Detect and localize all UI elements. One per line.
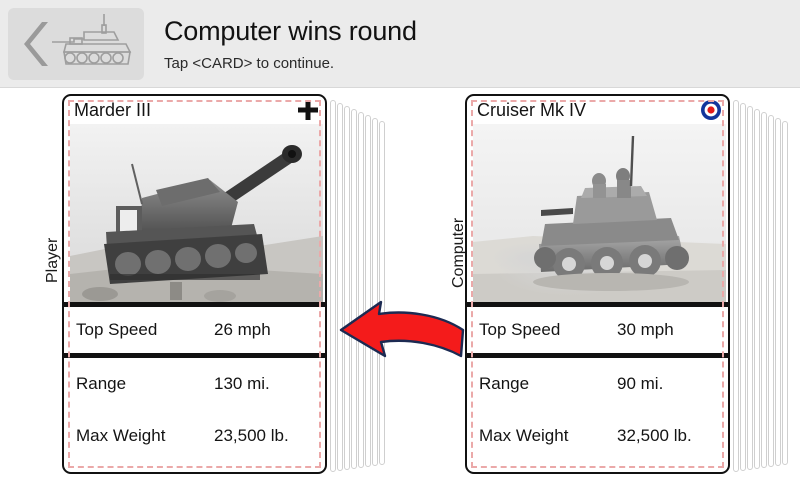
card-title-row: Marder III xyxy=(64,96,325,124)
stat-label: Max Weight xyxy=(76,426,165,446)
card-title-row: Cruiser Mk IV xyxy=(467,96,728,124)
computer-card-slot[interactable]: Cruiser Mk IV xyxy=(465,90,760,478)
stat-row[interactable]: Max Weight 23,500 lb. xyxy=(64,410,325,462)
stat-value: 30 mph xyxy=(617,320,674,340)
computer-card-title: Cruiser Mk IV xyxy=(477,99,586,121)
player-card[interactable]: Marder III xyxy=(62,94,327,474)
page-subtitle: Tap <CARD> to continue. xyxy=(164,54,784,74)
stat-label: Range xyxy=(479,374,529,394)
raf-roundel-icon xyxy=(700,99,722,121)
player-card-stats: Top Speed 26 mph Range 130 mi. Max Weigh… xyxy=(64,302,325,462)
computer-card-stats: Top Speed 30 mph Range 90 mi. Max Weight… xyxy=(467,302,728,462)
back-tank-icon[interactable] xyxy=(8,8,144,80)
stat-value: 32,500 lb. xyxy=(617,426,692,446)
cruiser-mk-iv-photo xyxy=(473,124,726,302)
transfer-arrow-left xyxy=(335,300,465,368)
stat-value: 130 mi. xyxy=(214,374,270,394)
stat-value: 90 mi. xyxy=(617,374,663,394)
stat-row[interactable]: Range 90 mi. xyxy=(467,358,728,410)
stat-label: Top Speed xyxy=(76,320,157,340)
german-cross-icon xyxy=(297,99,319,121)
stat-row[interactable]: Top Speed 26 mph xyxy=(64,302,325,358)
stat-row[interactable]: Range 130 mi. xyxy=(64,358,325,410)
side-label-player: Player xyxy=(44,238,62,283)
action-bar: Computer wins round Tap <CARD> to contin… xyxy=(0,0,800,88)
stat-label: Max Weight xyxy=(479,426,568,446)
stat-value: 26 mph xyxy=(214,320,271,340)
stat-value: 23,500 lb. xyxy=(214,426,289,446)
marder-iii-photo xyxy=(70,124,323,302)
stat-row[interactable]: Max Weight 32,500 lb. xyxy=(467,410,728,462)
stat-label: Range xyxy=(76,374,126,394)
player-card-title: Marder III xyxy=(74,99,151,121)
computer-card[interactable]: Cruiser Mk IV xyxy=(465,94,730,474)
stat-label: Top Speed xyxy=(479,320,560,340)
player-card-slot[interactable]: Marder III xyxy=(62,90,357,478)
back-tank-glyph xyxy=(8,8,144,80)
stat-row[interactable]: Top Speed 30 mph xyxy=(467,302,728,358)
page-title: Computer wins round xyxy=(164,14,784,48)
play-area: Player Computer Marder III xyxy=(0,88,800,480)
title-block: Computer wins round Tap <CARD> to contin… xyxy=(164,14,784,74)
